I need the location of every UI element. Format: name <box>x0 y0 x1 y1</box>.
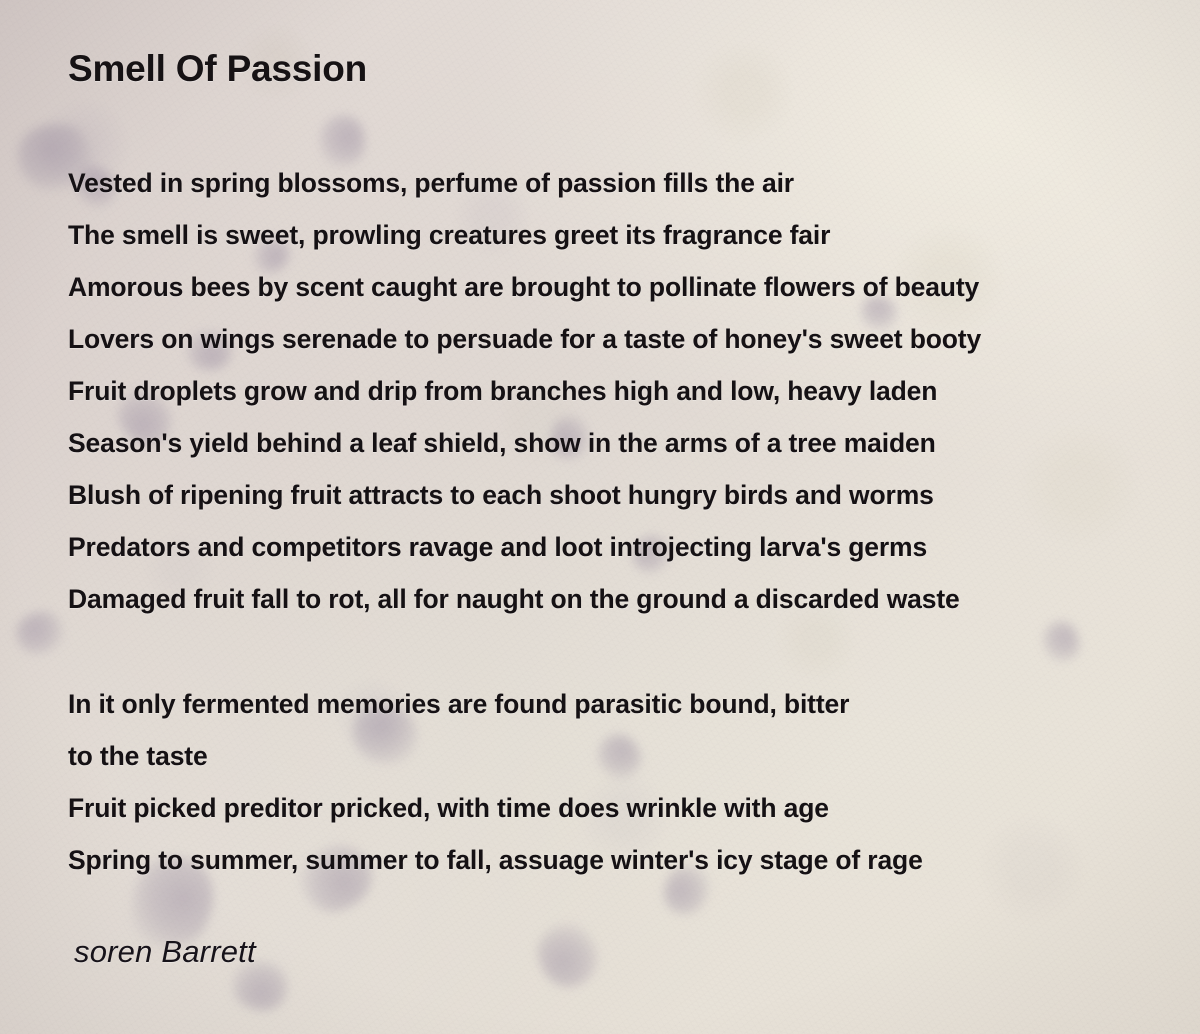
poem-line: Amorous bees by scent caught are brought… <box>68 261 1200 313</box>
poem-line: The smell is sweet, prowling creatures g… <box>68 209 1200 261</box>
poem-line: Fruit picked preditor pricked, with time… <box>68 782 1200 834</box>
poem-content: Smell Of Passion Vested in spring blosso… <box>0 0 1200 1034</box>
poem-line: Lovers on wings serenade to persuade for… <box>68 313 1200 365</box>
poem-line: Season's yield behind a leaf shield, sho… <box>68 417 1200 469</box>
poem-line: Fruit droplets grow and drip from branch… <box>68 365 1200 417</box>
poem-stanza-1: Vested in spring blossoms, perfume of pa… <box>68 157 1200 625</box>
poem-title: Smell Of Passion <box>68 48 367 90</box>
poem-line: Damaged fruit fall to rot, all for naugh… <box>68 573 1200 625</box>
poem-line: to the taste <box>68 730 1200 782</box>
poem-line: Blush of ripening fruit attracts to each… <box>68 469 1200 521</box>
poem-author: soren Barrett <box>74 934 256 970</box>
poem-line: Vested in spring blossoms, perfume of pa… <box>68 157 1200 209</box>
poem-image: Smell Of Passion Vested in spring blosso… <box>0 0 1200 1034</box>
poem-line: Predators and competitors ravage and loo… <box>68 521 1200 573</box>
poem-line: In it only fermented memories are found … <box>68 678 1200 730</box>
poem-stanza-2: In it only fermented memories are found … <box>68 678 1200 886</box>
poem-line: Spring to summer, summer to fall, assuag… <box>68 834 1200 886</box>
